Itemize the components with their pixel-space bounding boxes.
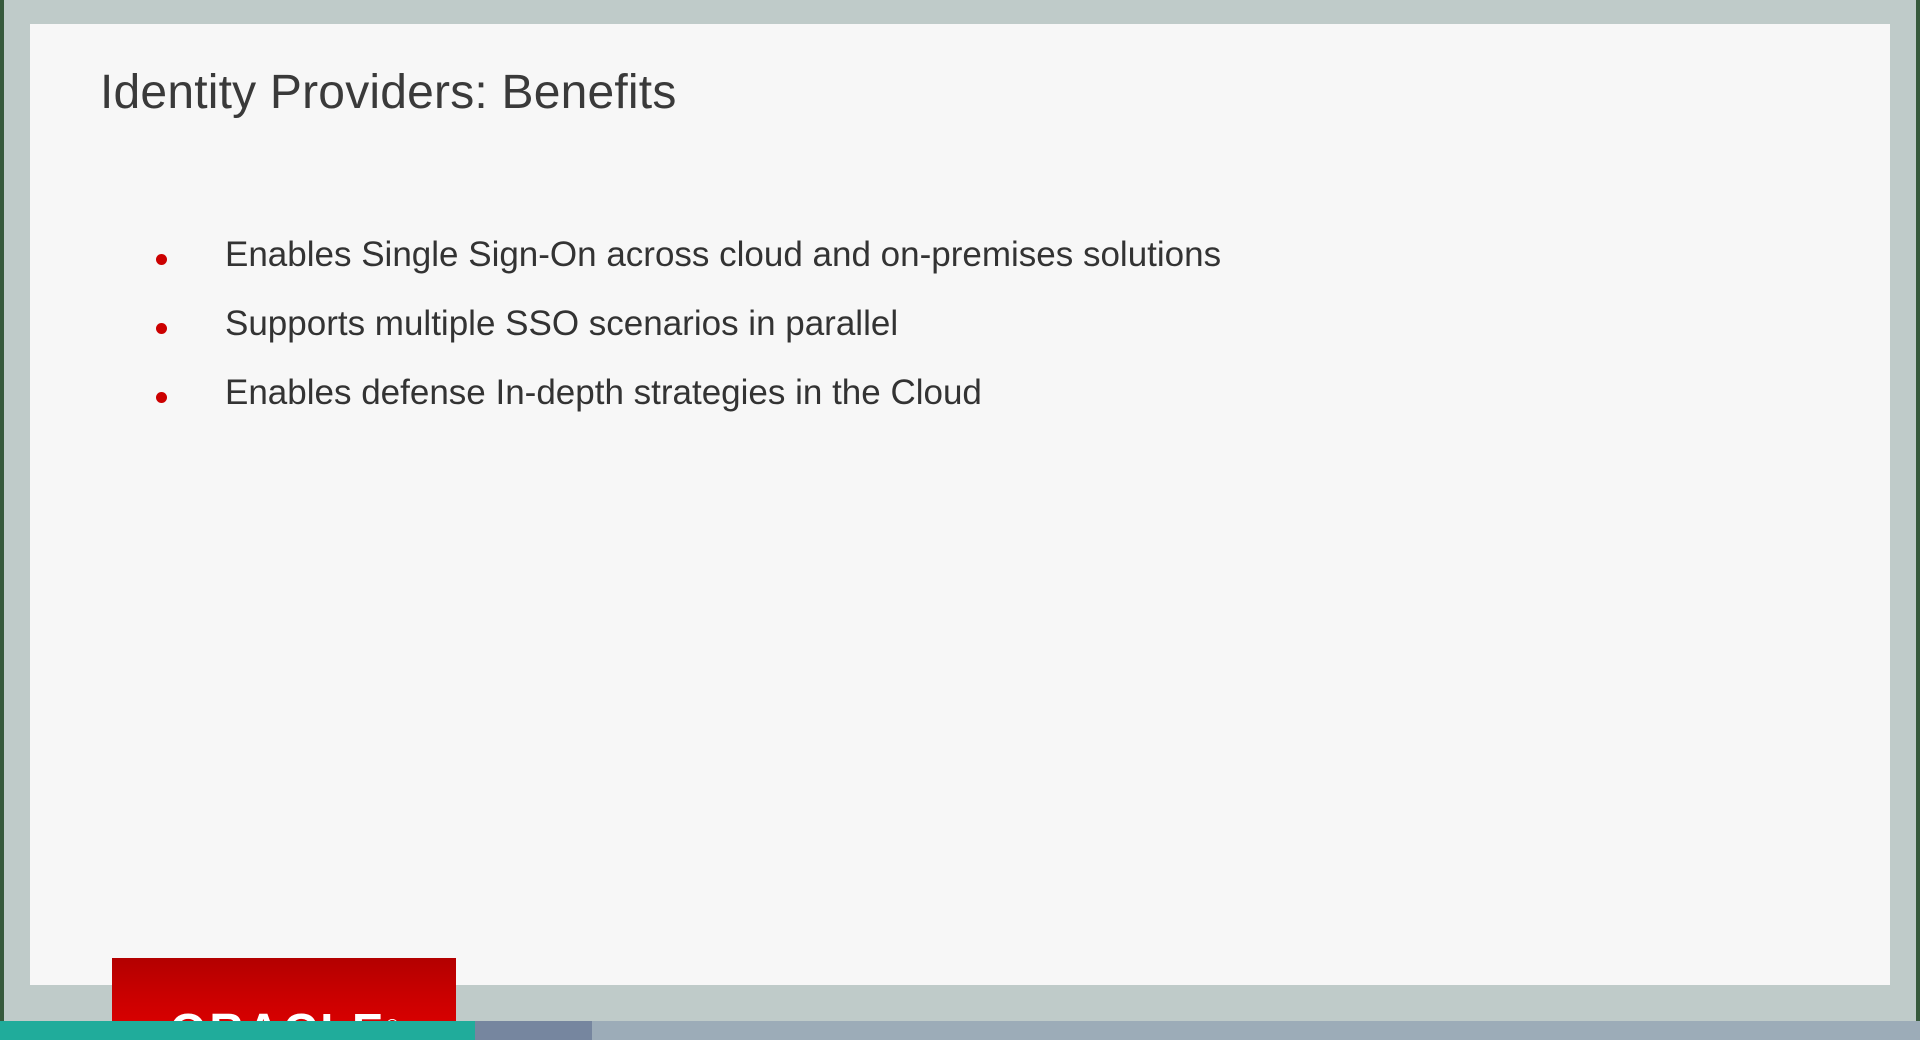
list-item-label: Enables Single Sign-On across cloud and … <box>225 232 1221 277</box>
list-item: Supports multiple SSO scenarios in paral… <box>30 301 1890 370</box>
progress-played-segment[interactable] <box>0 1021 475 1040</box>
bullet-list: Enables Single Sign-On across cloud and … <box>30 232 1890 439</box>
red-dot-bullet-icon <box>156 254 167 265</box>
red-dot-bullet-icon <box>156 323 167 334</box>
video-progress-bar[interactable] <box>0 1021 1920 1040</box>
page-title: Identity Providers: Benefits <box>100 64 677 122</box>
right-edge-rule <box>1916 0 1920 1021</box>
slide-viewer: Identity Providers: Benefits Enables Sin… <box>0 0 1920 1040</box>
list-item: Enables Single Sign-On across cloud and … <box>30 232 1890 301</box>
presentation-slide: Identity Providers: Benefits Enables Sin… <box>30 24 1890 985</box>
list-item-label: Supports multiple SSO scenarios in paral… <box>225 301 898 346</box>
red-dot-bullet-icon <box>156 392 167 403</box>
progress-buffered-segment[interactable] <box>475 1021 592 1040</box>
left-edge-rule <box>0 0 4 1021</box>
list-item: Enables defense In-depth strategies in t… <box>30 370 1890 439</box>
list-item-label: Enables defense In-depth strategies in t… <box>225 370 982 415</box>
